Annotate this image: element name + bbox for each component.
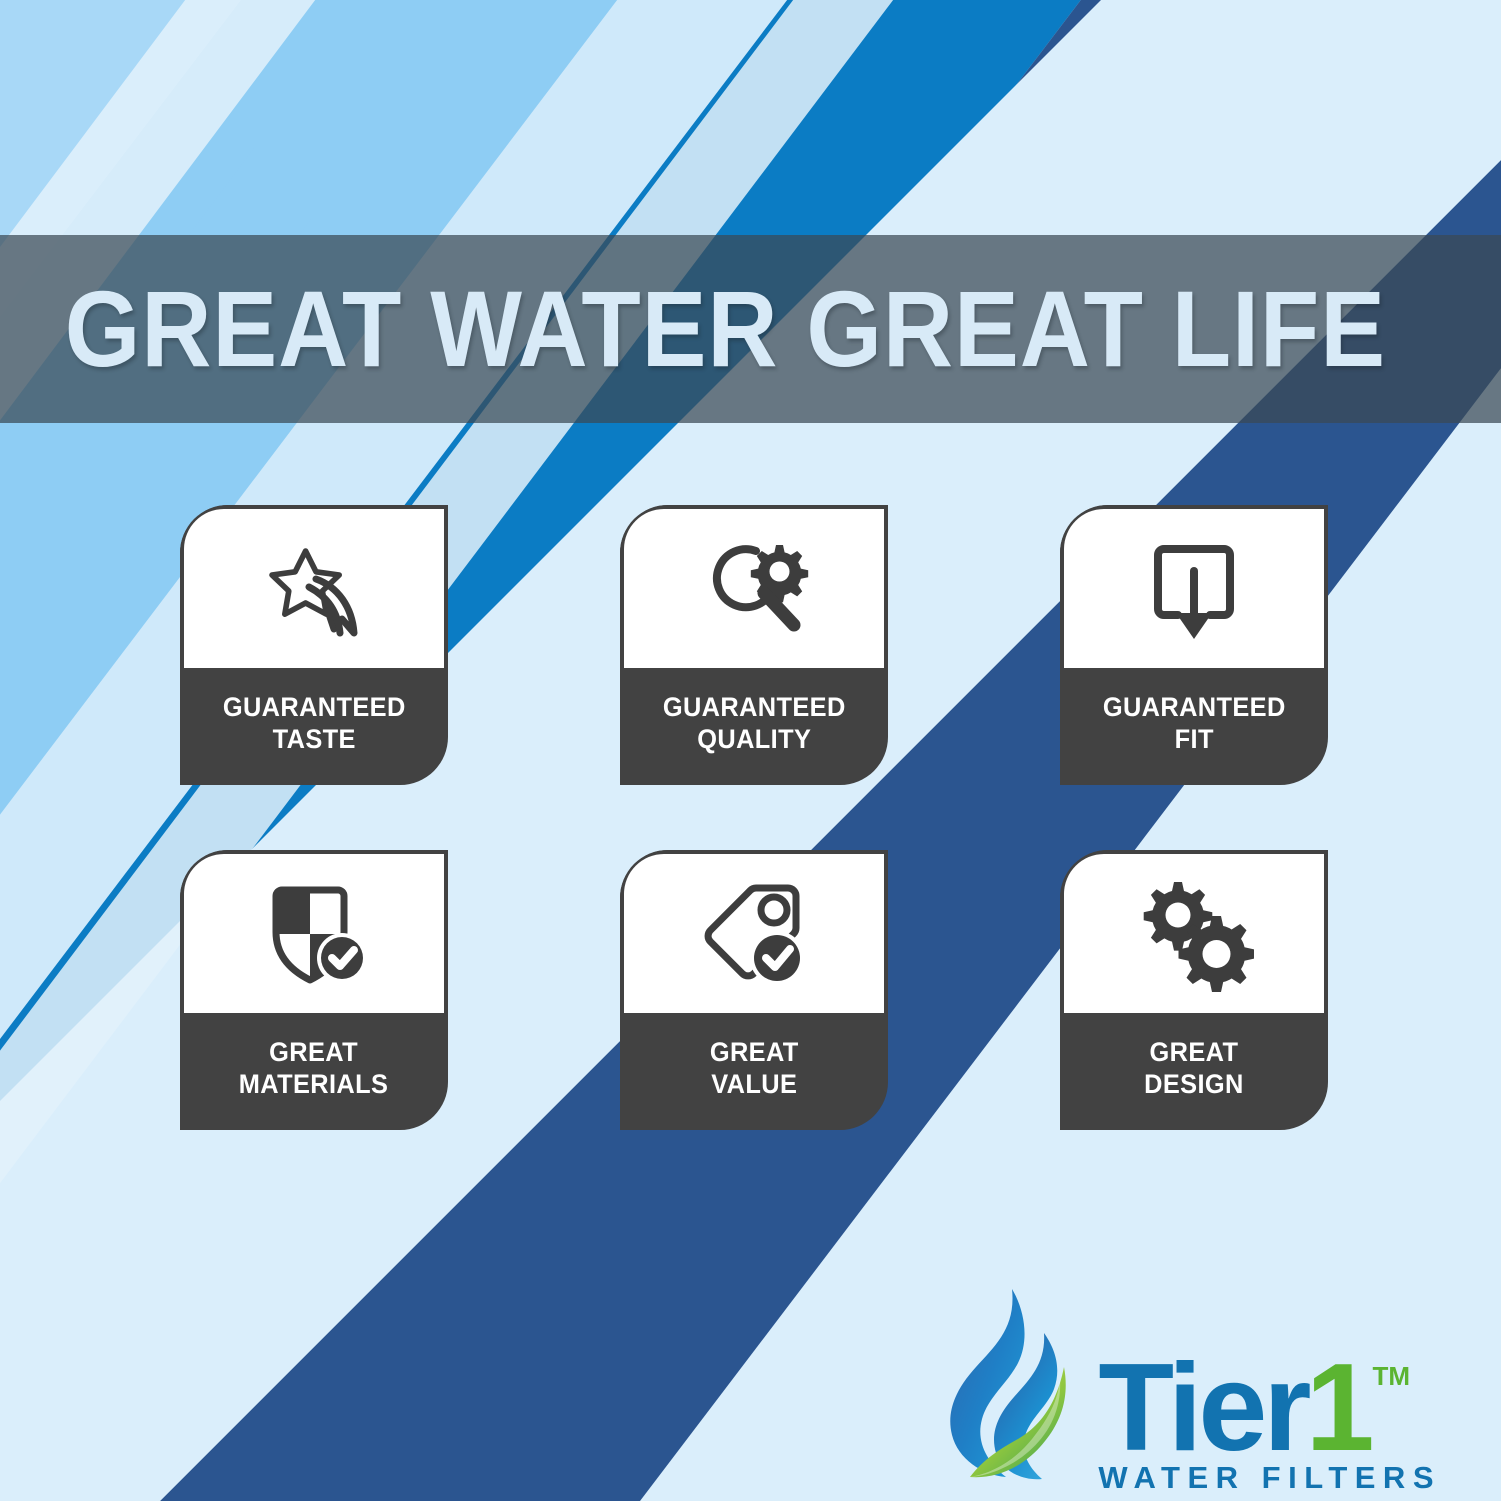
logo-brand-number: 1 [1306,1355,1371,1462]
shooting-star-icon [254,529,374,649]
logo-text-block: Tier 1 TM WATER FILTERS [1098,1355,1443,1493]
card-label-area: GREAT DESIGN [1060,1013,1328,1130]
feature-card-guaranteed-taste[interactable]: GUARANTEED TASTE [180,505,448,785]
brand-logo: Tier 1 TM WATER FILTERS [942,1283,1443,1493]
headline-banner: GREAT WATER GREAT LIFE [0,235,1501,423]
card-label: GREAT VALUE [710,1037,799,1100]
card-label-area: GUARANTEED TASTE [180,668,448,785]
feature-card-great-materials[interactable]: GREAT MATERIALS [180,850,448,1130]
download-into-box-icon [1134,529,1254,649]
feature-card-grid: GUARANTEED TASTE [180,505,1340,1130]
water-drop-leaf-icon [942,1283,1092,1493]
card-icon-area [620,850,888,1013]
shield-check-icon [254,874,374,994]
card-label: GREAT DESIGN [1144,1037,1244,1100]
feature-card-guaranteed-fit[interactable]: GUARANTEED FIT [1060,505,1328,785]
card-label-area: GREAT VALUE [620,1013,888,1130]
two-gears-icon [1134,874,1254,994]
logo-brand-name: Tier [1098,1355,1307,1462]
card-label: GUARANTEED FIT [1103,692,1286,755]
trademark-symbol: TM [1373,1363,1411,1389]
magnifier-gear-icon [694,529,814,649]
card-label-area: GUARANTEED FIT [1060,668,1328,785]
card-label-area: GUARANTEED QUALITY [620,668,888,785]
feature-card-great-design[interactable]: GREAT DESIGN [1060,850,1328,1130]
page-title: GREAT WATER GREAT LIFE [0,275,1386,383]
card-icon-area [1060,505,1328,668]
card-icon-area [180,505,448,668]
feature-card-great-value[interactable]: GREAT VALUE [620,850,888,1130]
card-icon-area [620,505,888,668]
card-label: GUARANTEED QUALITY [663,692,846,755]
price-tag-check-icon [694,874,814,994]
card-icon-area [180,850,448,1013]
card-label: GUARANTEED TASTE [223,692,406,755]
card-label: GREAT MATERIALS [239,1037,389,1100]
logo-wordmark: Tier 1 TM [1098,1355,1443,1462]
card-label-area: GREAT MATERIALS [180,1013,448,1130]
feature-card-guaranteed-quality[interactable]: GUARANTEED QUALITY [620,505,888,785]
card-icon-area [1060,850,1328,1013]
logo-tagline: WATER FILTERS [1098,1460,1443,1495]
poster-canvas: GREAT WATER GREAT LIFE GUARANTEED TASTE [0,0,1501,1501]
